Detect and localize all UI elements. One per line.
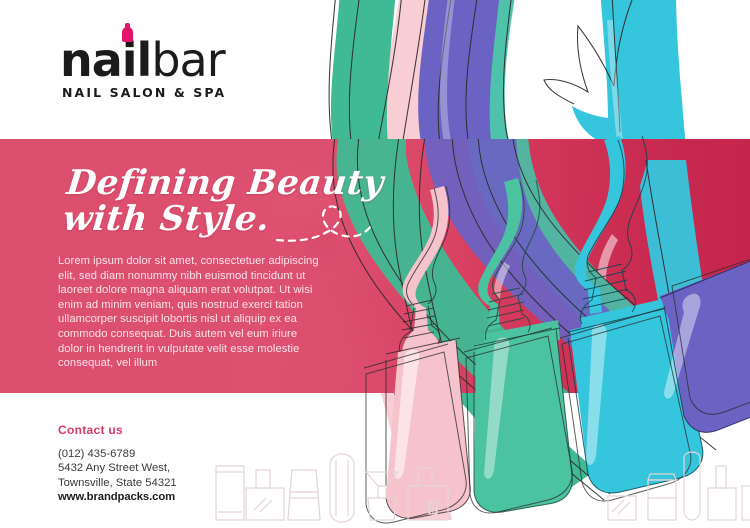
band-right-gradient — [450, 139, 750, 393]
contact-address-line-2: Townsville, State 54321 — [58, 476, 177, 490]
logo-wordmark: nailbar — [60, 36, 226, 84]
dashed-swoosh-decoration — [275, 198, 375, 250]
perfume-bottle-icon — [246, 470, 284, 520]
contact-block: Contact us (012) 435-6789 5432 Any Stree… — [58, 423, 177, 505]
makeup-brush-icon — [366, 472, 398, 520]
contact-phone[interactable]: (012) 435-6789 — [58, 447, 177, 461]
brand-logo: nailbar NAIL SALON & SPA — [60, 36, 226, 100]
logo-word-bold: nail — [60, 33, 151, 87]
contact-details: (012) 435-6789 5432 Any Street West, Tow… — [58, 447, 177, 505]
headline-line-1: Defining Beauty — [65, 163, 386, 203]
nail-polish-dot-icon — [122, 27, 133, 42]
contact-website[interactable]: www.brandpacks.com — [58, 490, 177, 504]
cream-tube-icon — [216, 466, 244, 520]
nail-file-icon — [330, 454, 354, 522]
contact-heading: Contact us — [58, 423, 177, 437]
logo-word-light: bar — [151, 33, 224, 87]
cream-tube-icon-2 — [648, 474, 676, 520]
nail-polish-bottle-icon — [408, 468, 448, 520]
flyer-canvas: nailbar NAIL SALON & SPA Defining Beauty… — [0, 0, 750, 528]
nail-polish-brush-icon — [742, 468, 750, 520]
mascara-icon — [708, 466, 736, 520]
lipstick-icon — [288, 470, 320, 520]
cotton-pad-icon — [608, 496, 636, 520]
contact-address-line-1: 5432 Any Street West, — [58, 461, 177, 475]
hero-body-text: Lorem ipsum dolor sit amet, consectetuer… — [58, 254, 320, 371]
logo-tagline: NAIL SALON & SPA — [62, 85, 226, 100]
nail-file-icon-2 — [684, 452, 700, 520]
